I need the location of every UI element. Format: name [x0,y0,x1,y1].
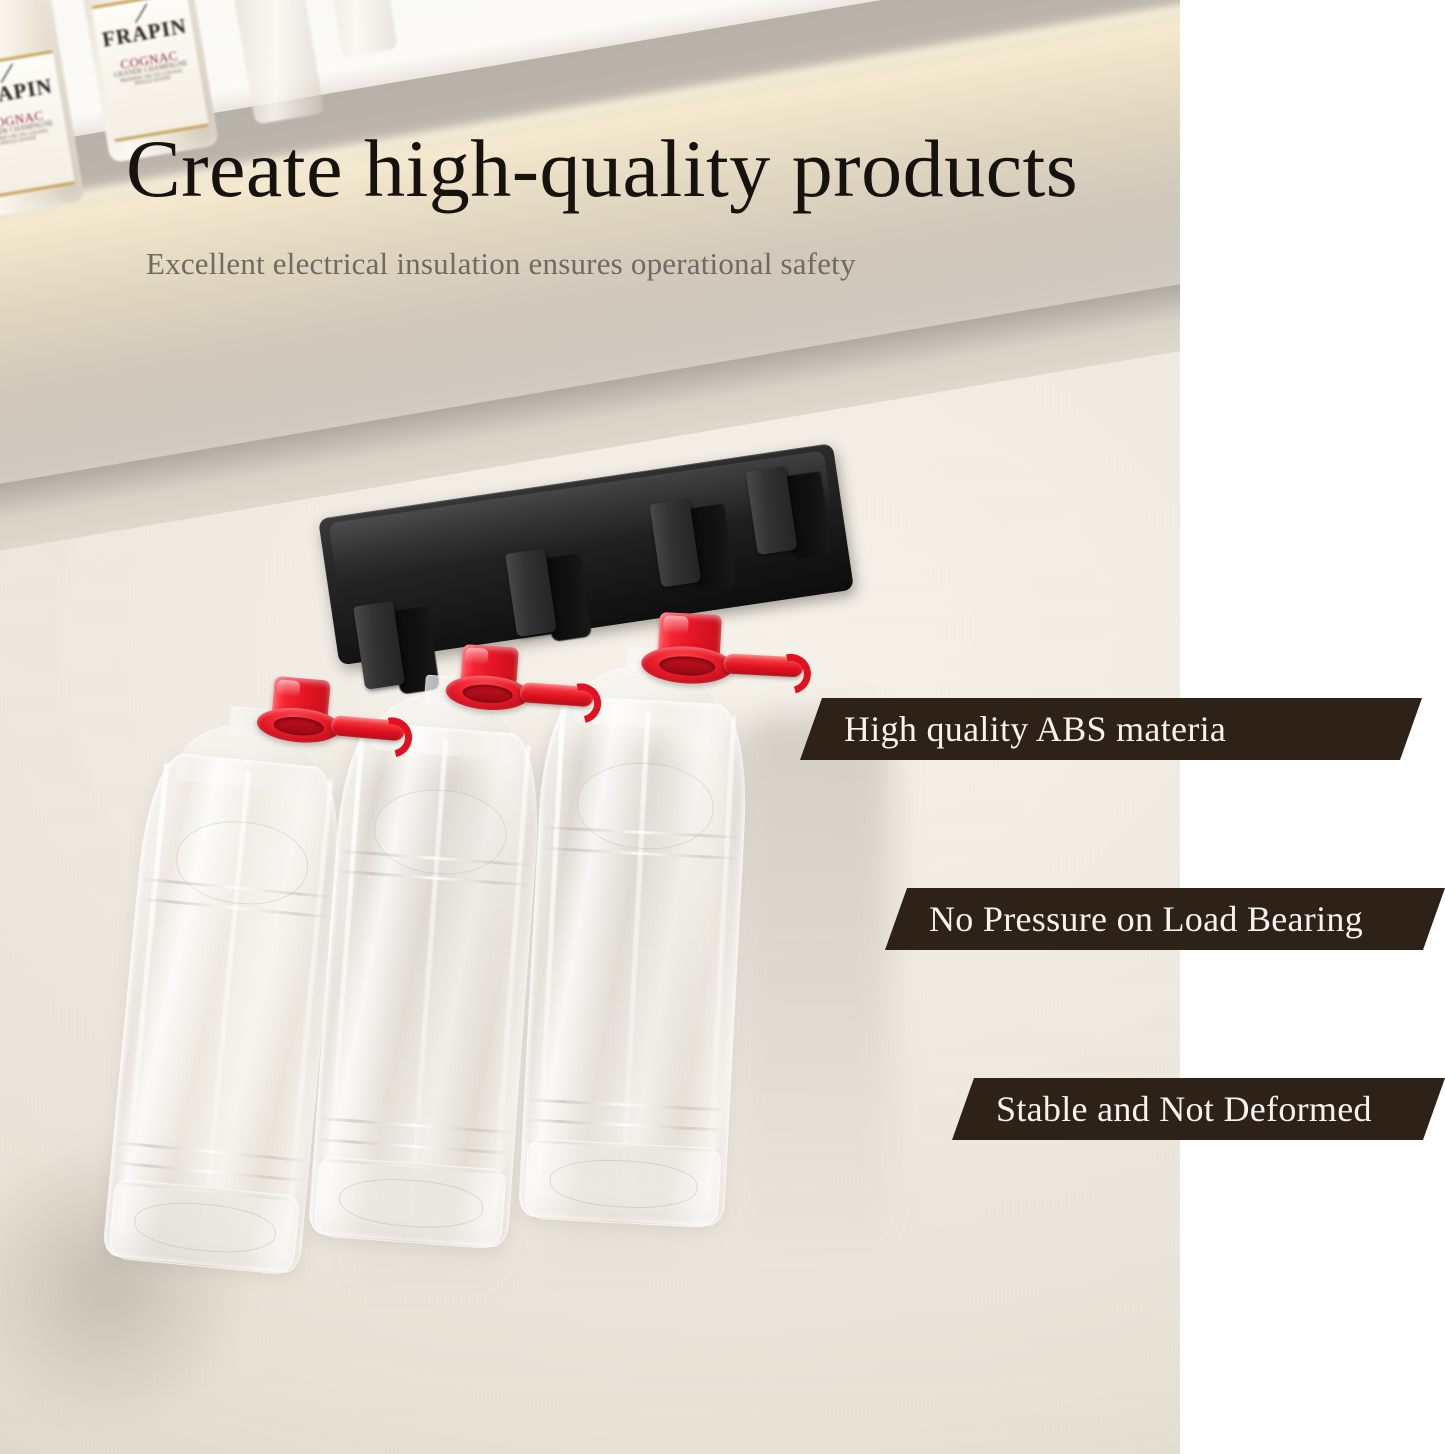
feature-banner-load-bearing: No Pressure on Load Bearing [885,888,1445,950]
rack-hook [649,495,728,596]
cognac-brand: FRAPIN [101,15,189,50]
bottle-emboss [173,815,312,910]
bottle-shadow [735,715,891,1270]
clip-hook-tongue [723,653,804,677]
feature-banner-label: No Pressure on Load Bearing [885,898,1397,940]
bottle-emboss [575,760,716,852]
page-subtitle: Excellent electrical insulation ensures … [146,248,856,279]
rack-hook [505,544,584,645]
feature-banner-stable: Stable and Not Deformed [952,1078,1445,1140]
rack-hook [746,462,825,563]
cognac-label: ⟋ FRAPIN COGNAC GRANDE CHAMPAGNE PREMIER… [91,0,209,142]
bottle-base [313,1156,506,1250]
feature-banner-abs-material: High quality ABS materia [800,698,1422,760]
hanging-bottle [518,695,749,1225]
bottle-emboss [371,786,509,879]
cognac-brand: FRAPIN [0,75,54,110]
rack-hook [353,597,432,698]
feature-banner-label: High quality ABS materia [800,708,1260,750]
bottle-base [524,1138,722,1228]
page-title: Create high-quality products [126,128,1078,210]
hanging-bottle [308,721,543,1246]
product-marketing-image: ⟋ FRAPIN COGNAC GRANDE CHAMPAGNE PREMIER… [0,0,1445,1454]
feature-banner-label: Stable and Not Deformed [952,1088,1406,1130]
